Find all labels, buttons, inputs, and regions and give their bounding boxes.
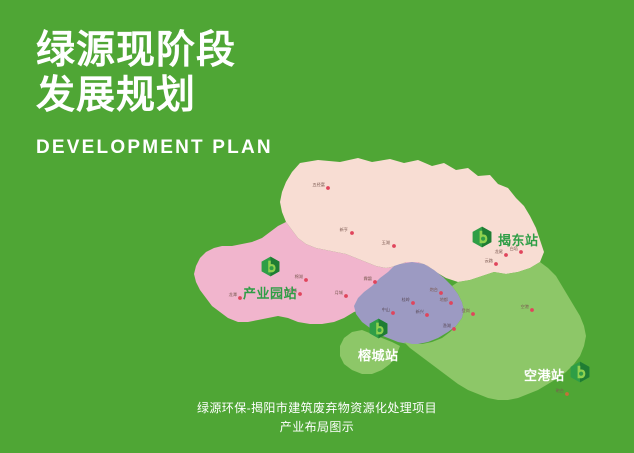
page-title-line2: 发展规划 [36, 73, 366, 118]
svg-text:登岗: 登岗 [462, 307, 470, 313]
svg-text:中山: 中山 [382, 306, 390, 313]
svg-text:霖磐: 霖磐 [364, 275, 372, 282]
hexagon-logo-icon [570, 361, 590, 388]
svg-text:新亨: 新亨 [340, 226, 348, 233]
svg-text:砲台: 砲台 [556, 387, 564, 394]
station-label-rongcheng: 榕城站 [358, 345, 399, 364]
svg-text:龙潭: 龙潭 [229, 291, 237, 298]
caption-block: 绿源环保-揭阳市建筑废弃物资源化处理项目 产业布局图示 [0, 399, 634, 437]
svg-text:空港: 空港 [521, 303, 530, 310]
page-subtitle: DEVELOPMENT PLAN [36, 136, 366, 160]
station-label-konggang: 空港站 [524, 365, 565, 384]
poster-root: 五经富 新亨 玉湖 龙尾 白塔 云路 龙潭 棉湖 白塔镇 月城 霖磐 桂岭 中山… [0, 0, 634, 453]
svg-text:渔湖: 渔湖 [443, 322, 451, 329]
svg-text:炮台: 炮台 [430, 286, 438, 293]
caption-line-1: 绿源环保-揭阳市建筑废弃物资源化处理项目 [0, 399, 634, 418]
station-marker-industrial-park[interactable]: 产业园站 [243, 256, 297, 302]
svg-text:地都: 地都 [440, 296, 449, 303]
header-block: 绿源现阶段 发展规划 DEVELOPMENT PLAN [36, 28, 366, 160]
hexagon-logo-icon [369, 318, 388, 344]
page-title-line1: 绿源现阶段 [36, 28, 366, 73]
station-marker-jiedong[interactable]: 揭东站 [472, 226, 539, 253]
station-marker-rongcheng[interactable]: 榕城站 [358, 318, 399, 364]
station-marker-konggang[interactable]: 空港站 [524, 361, 590, 388]
hexagon-logo-icon [472, 226, 492, 253]
svg-text:玉湖: 玉湖 [382, 239, 390, 246]
station-label-jiedong: 揭东站 [498, 230, 539, 249]
svg-text:月城: 月城 [335, 289, 344, 296]
svg-text:桂岭: 桂岭 [402, 296, 410, 303]
station-label-industrial-park: 产业园站 [243, 283, 297, 302]
svg-text:五经富: 五经富 [312, 181, 325, 188]
caption-line-2: 产业布局图示 [0, 418, 634, 437]
hexagon-logo-icon [261, 256, 280, 282]
svg-text:云路: 云路 [485, 257, 494, 264]
svg-text:新兴: 新兴 [416, 308, 424, 315]
